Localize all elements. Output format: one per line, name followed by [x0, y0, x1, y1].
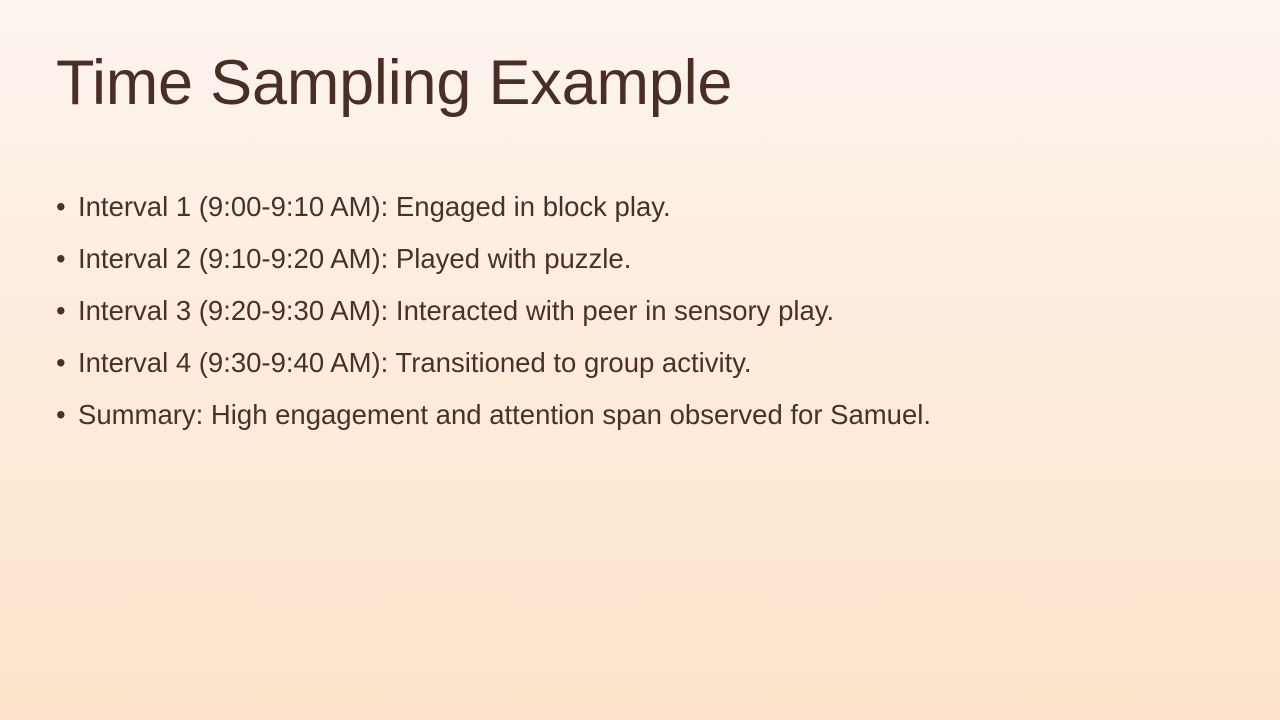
list-item-text: Interval 3 (9:20-9:30 AM): Interacted wi…	[78, 290, 834, 332]
presentation-slide: Time Sampling Example • Interval 1 (9:00…	[0, 0, 1280, 720]
list-item: • Interval 1 (9:00-9:10 AM): Engaged in …	[56, 186, 1236, 238]
slide-title: Time Sampling Example	[56, 48, 1226, 119]
bullet-dot-icon: •	[56, 342, 78, 384]
bullet-dot-icon: •	[56, 186, 78, 228]
list-item-text: Interval 4 (9:30-9:40 AM): Transitioned …	[78, 342, 752, 384]
list-item: • Interval 4 (9:30-9:40 AM): Transitione…	[56, 342, 1236, 394]
list-item-text: Interval 2 (9:10-9:20 AM): Played with p…	[78, 238, 631, 280]
bullet-dot-icon: •	[56, 290, 78, 332]
bullet-list: • Interval 1 (9:00-9:10 AM): Engaged in …	[56, 186, 1236, 446]
bullet-dot-icon: •	[56, 394, 78, 436]
list-item: • Summary: High engagement and attention…	[56, 394, 1236, 446]
list-item: • Interval 2 (9:10-9:20 AM): Played with…	[56, 238, 1236, 290]
list-item-text: Summary: High engagement and attention s…	[78, 394, 931, 436]
list-item: • Interval 3 (9:20-9:30 AM): Interacted …	[56, 290, 1236, 342]
bullet-dot-icon: •	[56, 238, 78, 280]
list-item-text: Interval 1 (9:00-9:10 AM): Engaged in bl…	[78, 186, 671, 228]
